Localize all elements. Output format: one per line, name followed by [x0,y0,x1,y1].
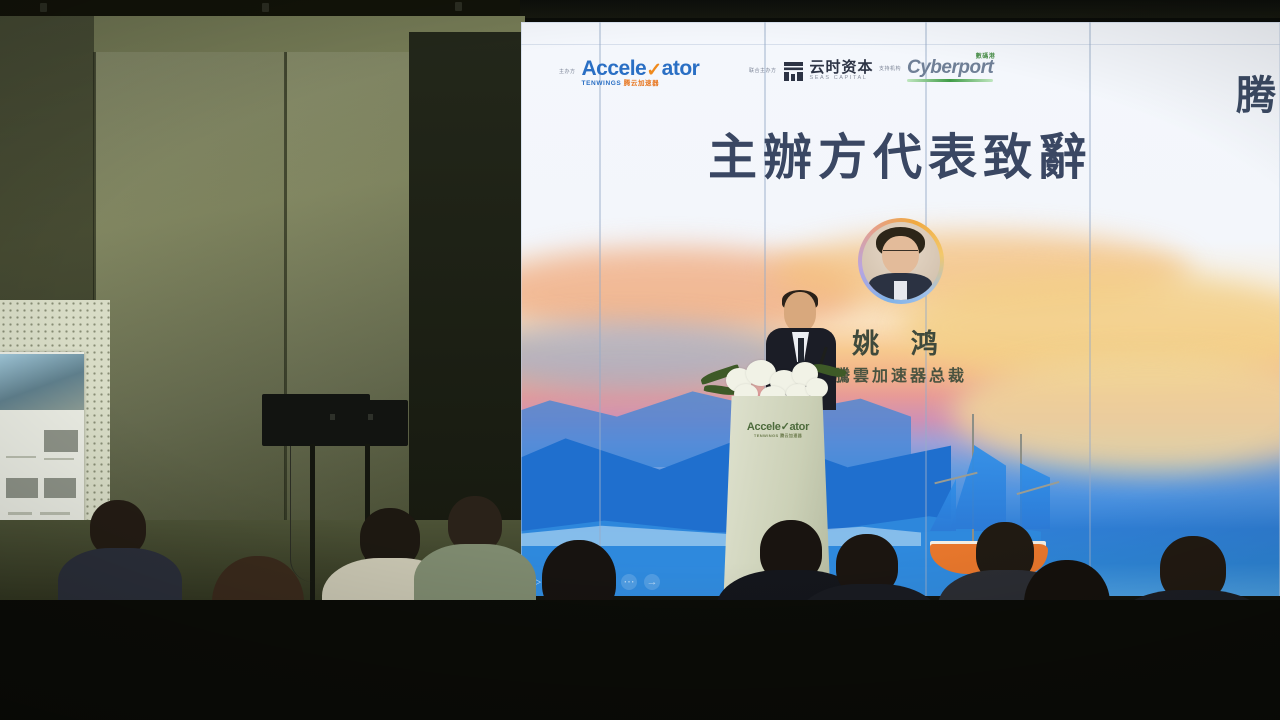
accelevator-subtitle: TENWINGS 腾云加速器 [582,80,700,88]
sponsor-tag: 支持机构 [879,67,901,73]
speaker-cable [290,446,313,582]
speaker-name: 姚 鸿 [521,322,1280,361]
floor-shadow [0,600,1280,720]
accelevator-logo: Accele✓ator TENWINGS 腾云加速器 [582,58,700,88]
seas-capital-text: 云时资本 SEAS CAPITAL [810,60,874,83]
check-icon: ✓ [646,61,661,80]
sponsor-accelevator: 主办方 Accele✓ator TENWINGS 腾云加速器 [559,58,699,88]
next-slide-icon[interactable]: → [644,574,660,590]
speaker-led [368,414,373,420]
speaker-portrait-avatar [858,218,944,304]
speaker-role: 騰雲加速器总裁 [521,362,1280,386]
cyberport-chinese: 數碼港 [976,51,996,60]
seas-capital-mark [783,61,804,82]
sponsor-tag: 主办方 [559,70,576,76]
panel-seam [521,44,1280,45]
sponsor-tag: 联合主办方 [749,69,777,75]
conference-photo: 主办方 Accele✓ator TENWINGS 腾云加速器 联合主办方 [0,0,1280,720]
cyberport-underline [907,79,993,82]
cyberport-logo: Cyberport 數碼港 [907,58,993,82]
accelevator-wordmark: Accele✓ator [582,57,700,80]
sponsor-logo-row: 主办方 Accele✓ator TENWINGS 腾云加速器 联合主办方 [521,48,1280,110]
sponsor-cyberport: 支持机构 Cyberport 數碼港 [879,58,993,82]
pa-speaker-right [330,400,408,446]
speaker-led [330,414,335,420]
cyberport-wordmark: Cyberport [907,57,993,78]
more-options-icon[interactable]: ⋯ [621,574,637,590]
slide-title: 主辦方代表致辭 [521,118,1280,189]
tencent-partial-mark: 腾 [1236,76,1276,116]
led-presentation-screen: 主办方 Accele✓ator TENWINGS 腾云加速器 联合主办方 [521,22,1280,598]
ceiling-light-rail [0,0,520,16]
sponsor-seas-capital: 联合主办方 云时资本 SEAS CAPITAL [749,60,874,83]
